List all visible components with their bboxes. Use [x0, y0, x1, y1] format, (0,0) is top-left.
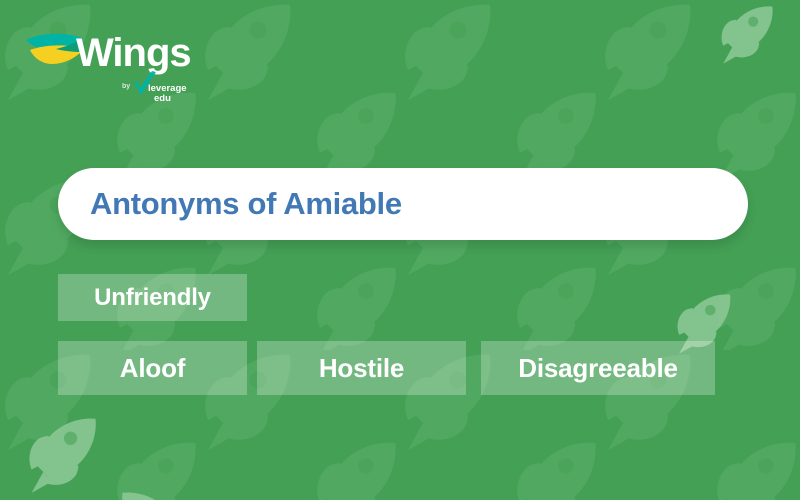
title-card: Antonyms of Amiable [58, 168, 748, 240]
poster-canvas: Wings by leverage edu Antonyms of Amiabl… [0, 0, 800, 500]
antonym-chip-label: Hostile [319, 353, 404, 384]
antonym-chip-label: Disagreeable [518, 353, 677, 384]
antonym-chip-label: Unfriendly [94, 284, 211, 312]
brand-by-label: by [122, 83, 130, 90]
brand-wordmark: Wings [76, 31, 191, 75]
parent-brand-wordmark-2: edu [154, 93, 171, 102]
antonym-chip-label: Aloof [120, 353, 185, 384]
brand-logo: Wings by leverage edu [22, 22, 212, 102]
antonym-chip-aloof[interactable]: Aloof [58, 341, 247, 395]
antonym-chip-unfriendly[interactable]: Unfriendly [58, 274, 247, 321]
antonym-chip-disagreeable[interactable]: Disagreeable [481, 341, 715, 395]
antonym-chip-hostile[interactable]: Hostile [257, 341, 466, 395]
page-title: Antonyms of Amiable [90, 186, 402, 222]
